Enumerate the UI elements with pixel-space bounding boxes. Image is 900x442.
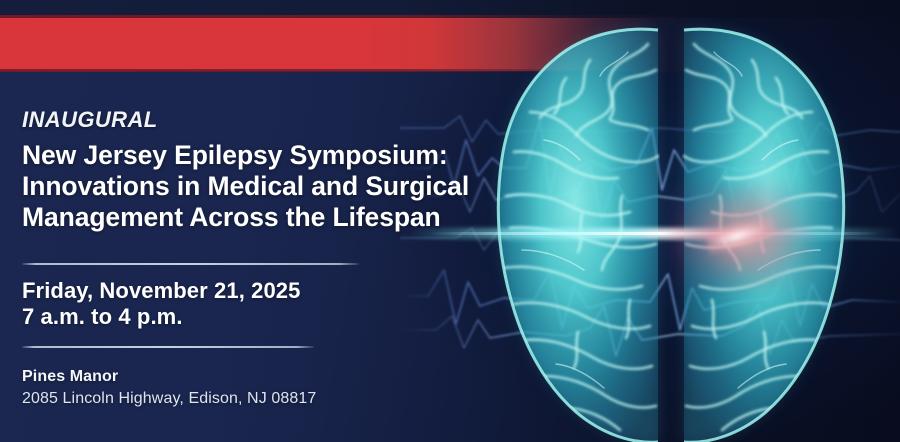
event-time: 7 a.m. to 4 p.m. — [22, 304, 300, 330]
title-line-3: Management Across the Lifespan — [22, 202, 552, 233]
venue-address: 2085 Lincoln Highway, Edison, NJ 08817 — [22, 390, 316, 408]
divider-above-venue — [22, 346, 314, 348]
event-datetime: Friday, November 21, 2025 7 a.m. to 4 p.… — [22, 278, 300, 330]
venue-name: Pines Manor — [22, 368, 118, 386]
divider-above-date — [22, 263, 359, 265]
event-date: Friday, November 21, 2025 — [22, 278, 300, 304]
title-line-2: Innovations in Medical and Surgical — [22, 171, 552, 202]
page-title: New Jersey Epilepsy Symposium: Innovatio… — [22, 140, 552, 233]
kicker-label: INAUGURAL — [22, 107, 158, 133]
banner-text-column: INAUGURAL New Jersey Epilepsy Symposium:… — [22, 0, 562, 442]
event-banner: INAUGURAL New Jersey Epilepsy Symposium:… — [0, 0, 900, 442]
title-line-1: New Jersey Epilepsy Symposium: — [22, 140, 552, 171]
